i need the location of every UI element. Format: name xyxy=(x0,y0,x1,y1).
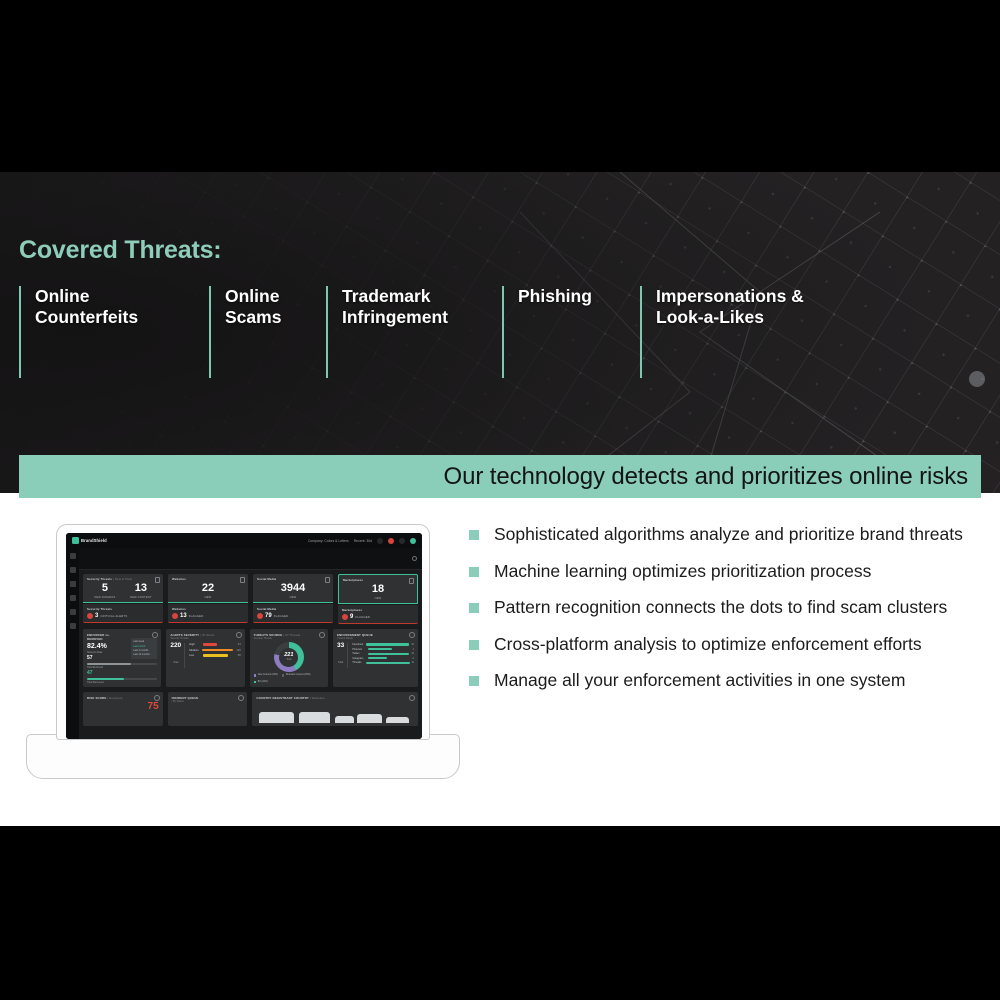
kpi-alert-line: 9 FLAGGED xyxy=(342,614,414,620)
kpi-alert-line: 3 CRITICAL ALERTS xyxy=(87,613,159,619)
info-icon[interactable] xyxy=(238,695,244,701)
list-item: Pattern recognition connects the dots to… xyxy=(469,597,989,617)
bullet-square-icon xyxy=(469,530,479,540)
kpi-card-marketplaces[interactable]: Marketplaces 18 NEW xyxy=(338,574,418,624)
threat-label: Online Counterfeits xyxy=(35,286,209,329)
gear-icon[interactable] xyxy=(412,556,417,561)
donut-ring: 221 Total xyxy=(274,642,304,672)
kpi-card-security-threats[interactable]: Security Threats | New & Total 5 NEW DOM… xyxy=(83,574,163,624)
kpi-metrics: 22 NEW xyxy=(172,583,244,599)
card-subtitle: | Social Media xyxy=(337,637,414,640)
geo-bars xyxy=(256,703,414,723)
kpi-alert: Marketplaces 9 FLAGGED xyxy=(338,605,418,624)
severity-row-low: Low 58 xyxy=(189,654,240,657)
cart-icon xyxy=(409,578,414,584)
legend-item: New Content (42%) xyxy=(254,674,278,677)
severity-row-high: High 34 xyxy=(189,643,240,646)
alert-label: CRITICAL ALERTS xyxy=(100,614,127,618)
shield-icon xyxy=(72,537,79,544)
severity-total-value: 220 xyxy=(170,643,181,650)
queue-total-value: 33 xyxy=(337,643,344,650)
kpi-metric: 22 NEW xyxy=(202,583,214,599)
donut-center: 221 Total xyxy=(279,648,298,667)
queue-row: Pinterest 1 xyxy=(352,648,414,651)
kpi-top: Social Media 3944 NEW xyxy=(253,574,333,603)
kpi-title: Websites xyxy=(172,577,244,581)
kpi-metrics: 5 NEW DOMAINS 13 NEW CONTENT xyxy=(87,583,159,599)
card-title: THREATS SOURCE | Of Threats xyxy=(254,633,324,637)
severity-total: 220 Total xyxy=(170,643,185,668)
queue-body: 33 Total Facebook 10 xyxy=(337,643,414,668)
bullet-text: Sophisticated algorithms analyze and pri… xyxy=(494,524,963,544)
card-enforced-vs-removed[interactable]: ENFORCED vs. REMOVED Last week Last mont… xyxy=(83,629,161,687)
platform-value: 10 xyxy=(411,652,414,655)
card-title: RISK SCORE | Exposure xyxy=(87,696,159,700)
kpi-metric: 13 NEW CONTENT xyxy=(130,583,152,599)
letterbox-top xyxy=(0,0,1000,172)
brand-logo[interactable]: BrandShield xyxy=(72,537,107,544)
kpi-label: NEW xyxy=(281,596,305,599)
kpi-card-social-media[interactable]: Social Media 3944 NEW xyxy=(253,574,333,624)
kpi-label: NEW xyxy=(202,596,214,599)
kpi-metrics: 3944 NEW xyxy=(257,583,329,599)
kpi-alert-title: Websites xyxy=(172,607,244,611)
card-title: ENFORCEMENT QUEUE xyxy=(337,633,414,637)
sidebar-item-enforcement[interactable] xyxy=(70,595,76,601)
letterbox-bottom xyxy=(0,826,1000,1000)
enforced-bar xyxy=(87,663,157,665)
laptop-mockup: BrandShield Company: Colors & Letters Re… xyxy=(26,524,460,764)
threat-label: Phishing xyxy=(518,286,640,307)
brand-name: BrandShield xyxy=(81,538,107,543)
kpi-alert-title: Social Media xyxy=(257,607,329,611)
sidebar-item-analytics[interactable] xyxy=(70,581,76,587)
bullet-text: Machine learning optimizes prioritizatio… xyxy=(494,561,871,581)
card-registrant-country[interactable]: COUNTRY REGISTRANT COUNTRY | Websites xyxy=(252,692,418,726)
platform-name: Facebook xyxy=(352,643,363,646)
card-enforcement-queue[interactable]: ENFORCEMENT QUEUE | Social Media 33 Tota… xyxy=(333,629,418,687)
dashboard-sidebar xyxy=(66,548,79,739)
threat-label: Trademark Infringement xyxy=(342,286,502,329)
kpi-label: NEW DOMAINS xyxy=(94,596,115,599)
kpi-value: 18 xyxy=(372,584,384,595)
alert-value: 13 xyxy=(180,613,187,619)
avatar[interactable] xyxy=(410,538,416,544)
bullet-square-icon xyxy=(469,567,479,577)
severity-value: 34 xyxy=(238,643,241,646)
dashboard-subheader xyxy=(66,548,422,570)
legend-item: Relevant Content (36%) xyxy=(282,674,311,677)
bullet-text: Manage all your enforcement activities i… xyxy=(494,670,905,690)
bell-icon xyxy=(325,577,330,583)
alert-icon xyxy=(87,613,93,619)
kpi-metrics: 18 NEW xyxy=(343,584,413,600)
threat-item-online-scams: Online Scams xyxy=(209,286,326,378)
alert-value: 3 xyxy=(95,613,98,619)
card-subtitle: | By Status xyxy=(172,700,244,703)
total-enforced-label: Total Enforced xyxy=(87,666,157,669)
severity-bar xyxy=(202,649,234,652)
slide-root: Covered Threats: Online Counterfeits Onl… xyxy=(0,0,1000,1000)
platform-bar xyxy=(368,657,387,659)
risk-score-value: 75 xyxy=(87,702,159,712)
threat-label: Impersonations & Look-a-Likes xyxy=(656,286,850,329)
severity-name: Medium xyxy=(189,649,199,652)
feature-bullet-list: Sophisticated algorithms analyze and pri… xyxy=(469,524,989,707)
bullet-text: Cross-platform analysis to optimize enfo… xyxy=(494,634,922,654)
severity-row-medium: Medium 128 xyxy=(189,649,240,652)
threat-item-impersonations: Impersonations & Look-a-Likes xyxy=(640,286,850,378)
kpi-value: 3944 xyxy=(281,583,305,594)
kpi-title: Marketplaces xyxy=(343,578,413,582)
headline-text: Our technology detects and prioritizes o… xyxy=(444,463,982,491)
severity-total-label: Total xyxy=(173,661,178,664)
donut-chart: 221 Total xyxy=(254,642,324,672)
notifications-icon[interactable] xyxy=(388,538,394,544)
donut-label: Total xyxy=(286,659,291,661)
bullet-square-icon xyxy=(469,676,479,686)
sidebar-item-home[interactable] xyxy=(70,553,76,559)
dashboard-main: Security Threats | New & Total 5 NEW DOM… xyxy=(79,570,422,739)
queue-row: Threads 11 xyxy=(352,661,414,664)
severity-name: Low xyxy=(189,654,200,657)
kpi-value: 5 xyxy=(94,583,115,594)
threat-item-phishing: Phishing xyxy=(502,286,640,378)
card-subtitle: Security Threats xyxy=(170,637,240,640)
list-item: Sophisticated algorithms analyze and pri… xyxy=(469,524,989,544)
threat-item-online-counterfeits: Online Counterfeits xyxy=(19,286,209,378)
kpi-row: Security Threats | New & Total 5 NEW DOM… xyxy=(83,574,418,624)
sidebar-item-settings[interactable] xyxy=(70,623,76,629)
kpi-top: Security Threats | New & Total 5 NEW DOM… xyxy=(83,574,163,603)
queue-row: Twitter 10 xyxy=(352,652,414,655)
period-dropdown[interactable]: Last week Last month Last 3 months Last … xyxy=(131,638,157,659)
card-threats-source[interactable]: THREATS SOURCE | Of Threats Security Thr… xyxy=(250,629,328,687)
legend-label: New Content (42%) xyxy=(258,674,278,676)
severity-bar xyxy=(203,654,228,657)
kpi-card-websites[interactable]: Websites 22 NEW xyxy=(168,574,248,624)
charts-row: ENFORCED vs. REMOVED Last week Last mont… xyxy=(83,629,418,687)
sidebar-item-threats[interactable] xyxy=(70,567,76,573)
messages-icon[interactable] xyxy=(399,538,405,544)
card-subtitle: Security Threats xyxy=(254,637,324,640)
info-icon[interactable] xyxy=(409,695,415,701)
list-item: Cross-platform analysis to optimize enfo… xyxy=(469,634,989,654)
alert-icon xyxy=(257,613,263,619)
kpi-alert-line: 13 FLAGGED xyxy=(172,613,244,619)
platform-name: Threads xyxy=(352,661,364,664)
headline-banner: Our technology detects and prioritizes o… xyxy=(19,455,981,498)
alert-value: 9 xyxy=(350,614,353,620)
threat-item-trademark-infringement: Trademark Infringement xyxy=(326,286,502,378)
alert-label: FLAGGED xyxy=(274,614,289,618)
kpi-alert-title: Security Threats xyxy=(87,607,159,611)
info-icon[interactable] xyxy=(319,632,325,638)
queue-rows: Facebook 10 Pinterest 1 xyxy=(352,643,414,668)
kpi-title: Social Media xyxy=(257,577,329,581)
list-item: Machine learning optimizes prioritizatio… xyxy=(469,561,989,581)
legend-label: Relevant Content (36%) xyxy=(286,674,311,676)
help-icon[interactable] xyxy=(377,538,383,544)
bell-icon[interactable] xyxy=(409,632,415,638)
platform-value: 10 xyxy=(411,643,414,646)
platform-value: 0 xyxy=(413,657,414,660)
platform-value: 11 xyxy=(412,661,414,664)
bullet-text: Pattern recognition connects the dots to… xyxy=(494,597,947,617)
kpi-alert: Websites 13 FLAGGED xyxy=(168,604,248,623)
page-title: Covered Threats: xyxy=(19,236,221,265)
platform-value: 1 xyxy=(413,648,414,651)
bullet-square-icon xyxy=(469,603,479,613)
alert-value: 79 xyxy=(265,613,272,619)
card-title: COUNTRY REGISTRANT COUNTRY | Websites xyxy=(256,696,414,700)
platform-name: Twitter xyxy=(352,652,365,655)
alert-label: FLAGGED xyxy=(189,614,204,618)
laptop-lid: BrandShield Company: Colors & Letters Re… xyxy=(56,524,430,740)
card-incident-queue[interactable]: INCIDENT QUEUE | By Status xyxy=(168,692,248,726)
kpi-metric: 18 NEW xyxy=(372,584,384,600)
queue-row: Facebook 10 xyxy=(352,643,414,646)
queue-row: Instagram 0 xyxy=(352,657,414,660)
alert-icon xyxy=(172,613,178,619)
sidebar-item-reports[interactable] xyxy=(70,609,76,615)
severity-value: 128 xyxy=(236,649,240,652)
platform-bar xyxy=(368,648,391,650)
bullet-square-icon xyxy=(469,640,479,650)
kpi-label: NEW CONTENT xyxy=(130,596,152,599)
card-title: INCIDENT QUEUE xyxy=(172,696,244,700)
card-alerts-severity[interactable]: ALERTS SEVERITY | Of Alerts Security Thr… xyxy=(166,629,244,687)
kpi-alert: Social Media 79 FLAGGED xyxy=(253,604,333,623)
kpi-value: 22 xyxy=(202,583,214,594)
alert-label: FLAGGED xyxy=(355,615,370,619)
info-icon[interactable] xyxy=(236,632,242,638)
total-removed-label: Total Removed xyxy=(87,681,157,684)
kpi-title: Security Threats | New & Total xyxy=(87,577,159,581)
kpi-value: 13 xyxy=(130,583,152,594)
queue-total-label: Total xyxy=(338,661,343,664)
kpi-top: Marketplaces 18 NEW xyxy=(338,574,418,604)
dropdown-option[interactable]: Last 12 months xyxy=(133,653,155,657)
platform-bar xyxy=(368,653,410,655)
kpi-top: Websites 22 NEW xyxy=(168,574,248,603)
kpi-metric: 5 NEW DOMAINS xyxy=(94,583,115,599)
alert-icon xyxy=(342,614,348,620)
legend-label: Biz (22%) xyxy=(258,681,268,683)
severity-bar xyxy=(203,643,216,646)
info-icon[interactable] xyxy=(154,695,160,701)
laptop-screen: BrandShield Company: Colors & Letters Re… xyxy=(66,533,422,739)
platform-bar xyxy=(366,643,410,645)
domain-icon xyxy=(155,577,160,583)
dashboard-topbar: BrandShield Company: Colors & Letters Re… xyxy=(66,533,422,548)
dashboard-app: BrandShield Company: Colors & Letters Re… xyxy=(66,533,422,739)
kpi-alert-line: 79 FLAGGED xyxy=(257,613,329,619)
platform-name: Instagram xyxy=(352,657,366,660)
company-selector[interactable]: Company: Colors & Letters xyxy=(308,539,349,543)
severity-value: 58 xyxy=(238,654,241,657)
severity-rows: High 34 Medium 128 xyxy=(189,643,240,660)
legend-item: Biz (22%) xyxy=(254,681,268,684)
total-removed-value: 47 xyxy=(87,671,157,676)
platform-name: Pinterest xyxy=(352,648,366,651)
laptop-base xyxy=(26,734,460,779)
topbar-actions: Company: Colors & Letters Recent: 30d xyxy=(308,538,416,544)
donut-legend: New Content (42%) Relevant Content (36%)… xyxy=(254,674,324,683)
list-item: Manage all your enforcement activities i… xyxy=(469,670,989,690)
bottom-row: RISK SCORE | Exposure 75 INCIDENT QUEUE … xyxy=(83,692,418,726)
kpi-metric: 3944 NEW xyxy=(281,583,305,599)
removed-bar xyxy=(87,678,157,680)
platform-bar xyxy=(366,662,409,664)
queue-total: 33 Total xyxy=(337,643,348,668)
kpi-alert: Security Threats 3 CRITICAL ALERTS xyxy=(83,604,163,623)
severity-name: High xyxy=(189,643,200,646)
kpi-alert-title: Marketplaces xyxy=(342,608,414,612)
card-risk-score[interactable]: RISK SCORE | Exposure 75 xyxy=(83,692,163,726)
date-range-selector[interactable]: Recent: 30d xyxy=(354,539,372,543)
severity-body: 220 Total High 34 xyxy=(170,643,240,668)
kpi-label: NEW xyxy=(372,597,384,600)
covered-threats-list: Online Counterfeits Online Scams Tradema… xyxy=(19,286,850,378)
threat-label: Online Scams xyxy=(225,286,326,329)
globe-icon xyxy=(240,577,245,583)
card-title: ALERTS SEVERITY | Of Alerts xyxy=(170,633,240,637)
